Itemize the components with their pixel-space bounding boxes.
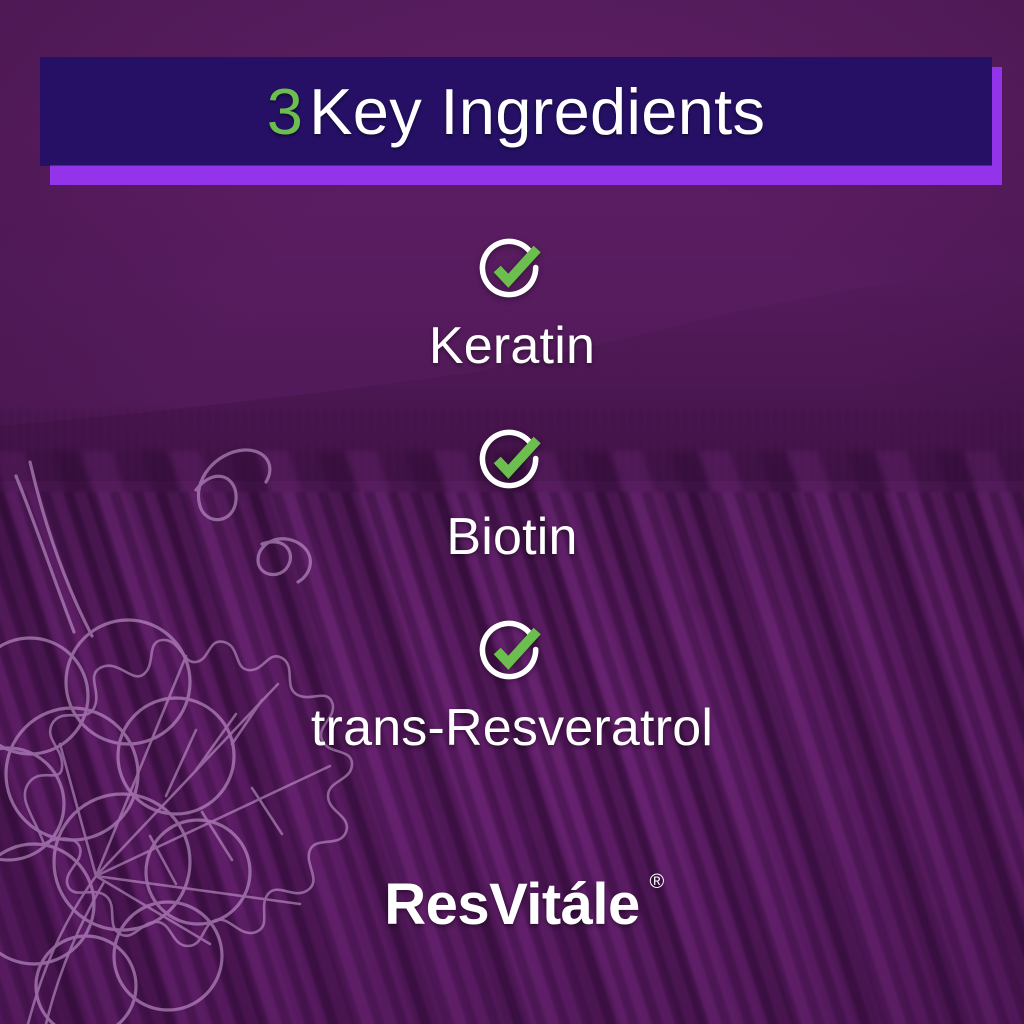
check-circle-icon <box>475 614 549 688</box>
ingredients-list: Keratin Biotin trans-Resveratrol <box>0 232 1024 758</box>
banner-box: 3Key Ingredients <box>40 57 992 165</box>
header-banner: 3Key Ingredients <box>40 57 992 175</box>
promo-graphic: 3Key Ingredients Keratin Biotin tran <box>0 0 1024 1024</box>
brand-name-wrap: ResVitále® <box>384 876 640 934</box>
check-circle-icon <box>475 423 549 497</box>
list-item: trans-Resveratrol <box>0 614 1024 757</box>
brand-logo: ResVitále® <box>0 876 1024 934</box>
page-title: 3Key Ingredients <box>267 79 766 144</box>
ingredient-label: trans-Resveratrol <box>311 700 713 757</box>
ingredient-label: Biotin <box>446 509 577 566</box>
title-number: 3 <box>267 75 303 148</box>
brand-name-text: ResVitále <box>384 872 640 937</box>
list-item: Keratin <box>0 232 1024 375</box>
list-item: Biotin <box>0 423 1024 566</box>
registered-trademark-symbol: ® <box>650 872 664 892</box>
title-text: Key Ingredients <box>309 75 765 148</box>
ingredient-label: Keratin <box>429 318 595 375</box>
check-circle-icon <box>475 232 549 306</box>
